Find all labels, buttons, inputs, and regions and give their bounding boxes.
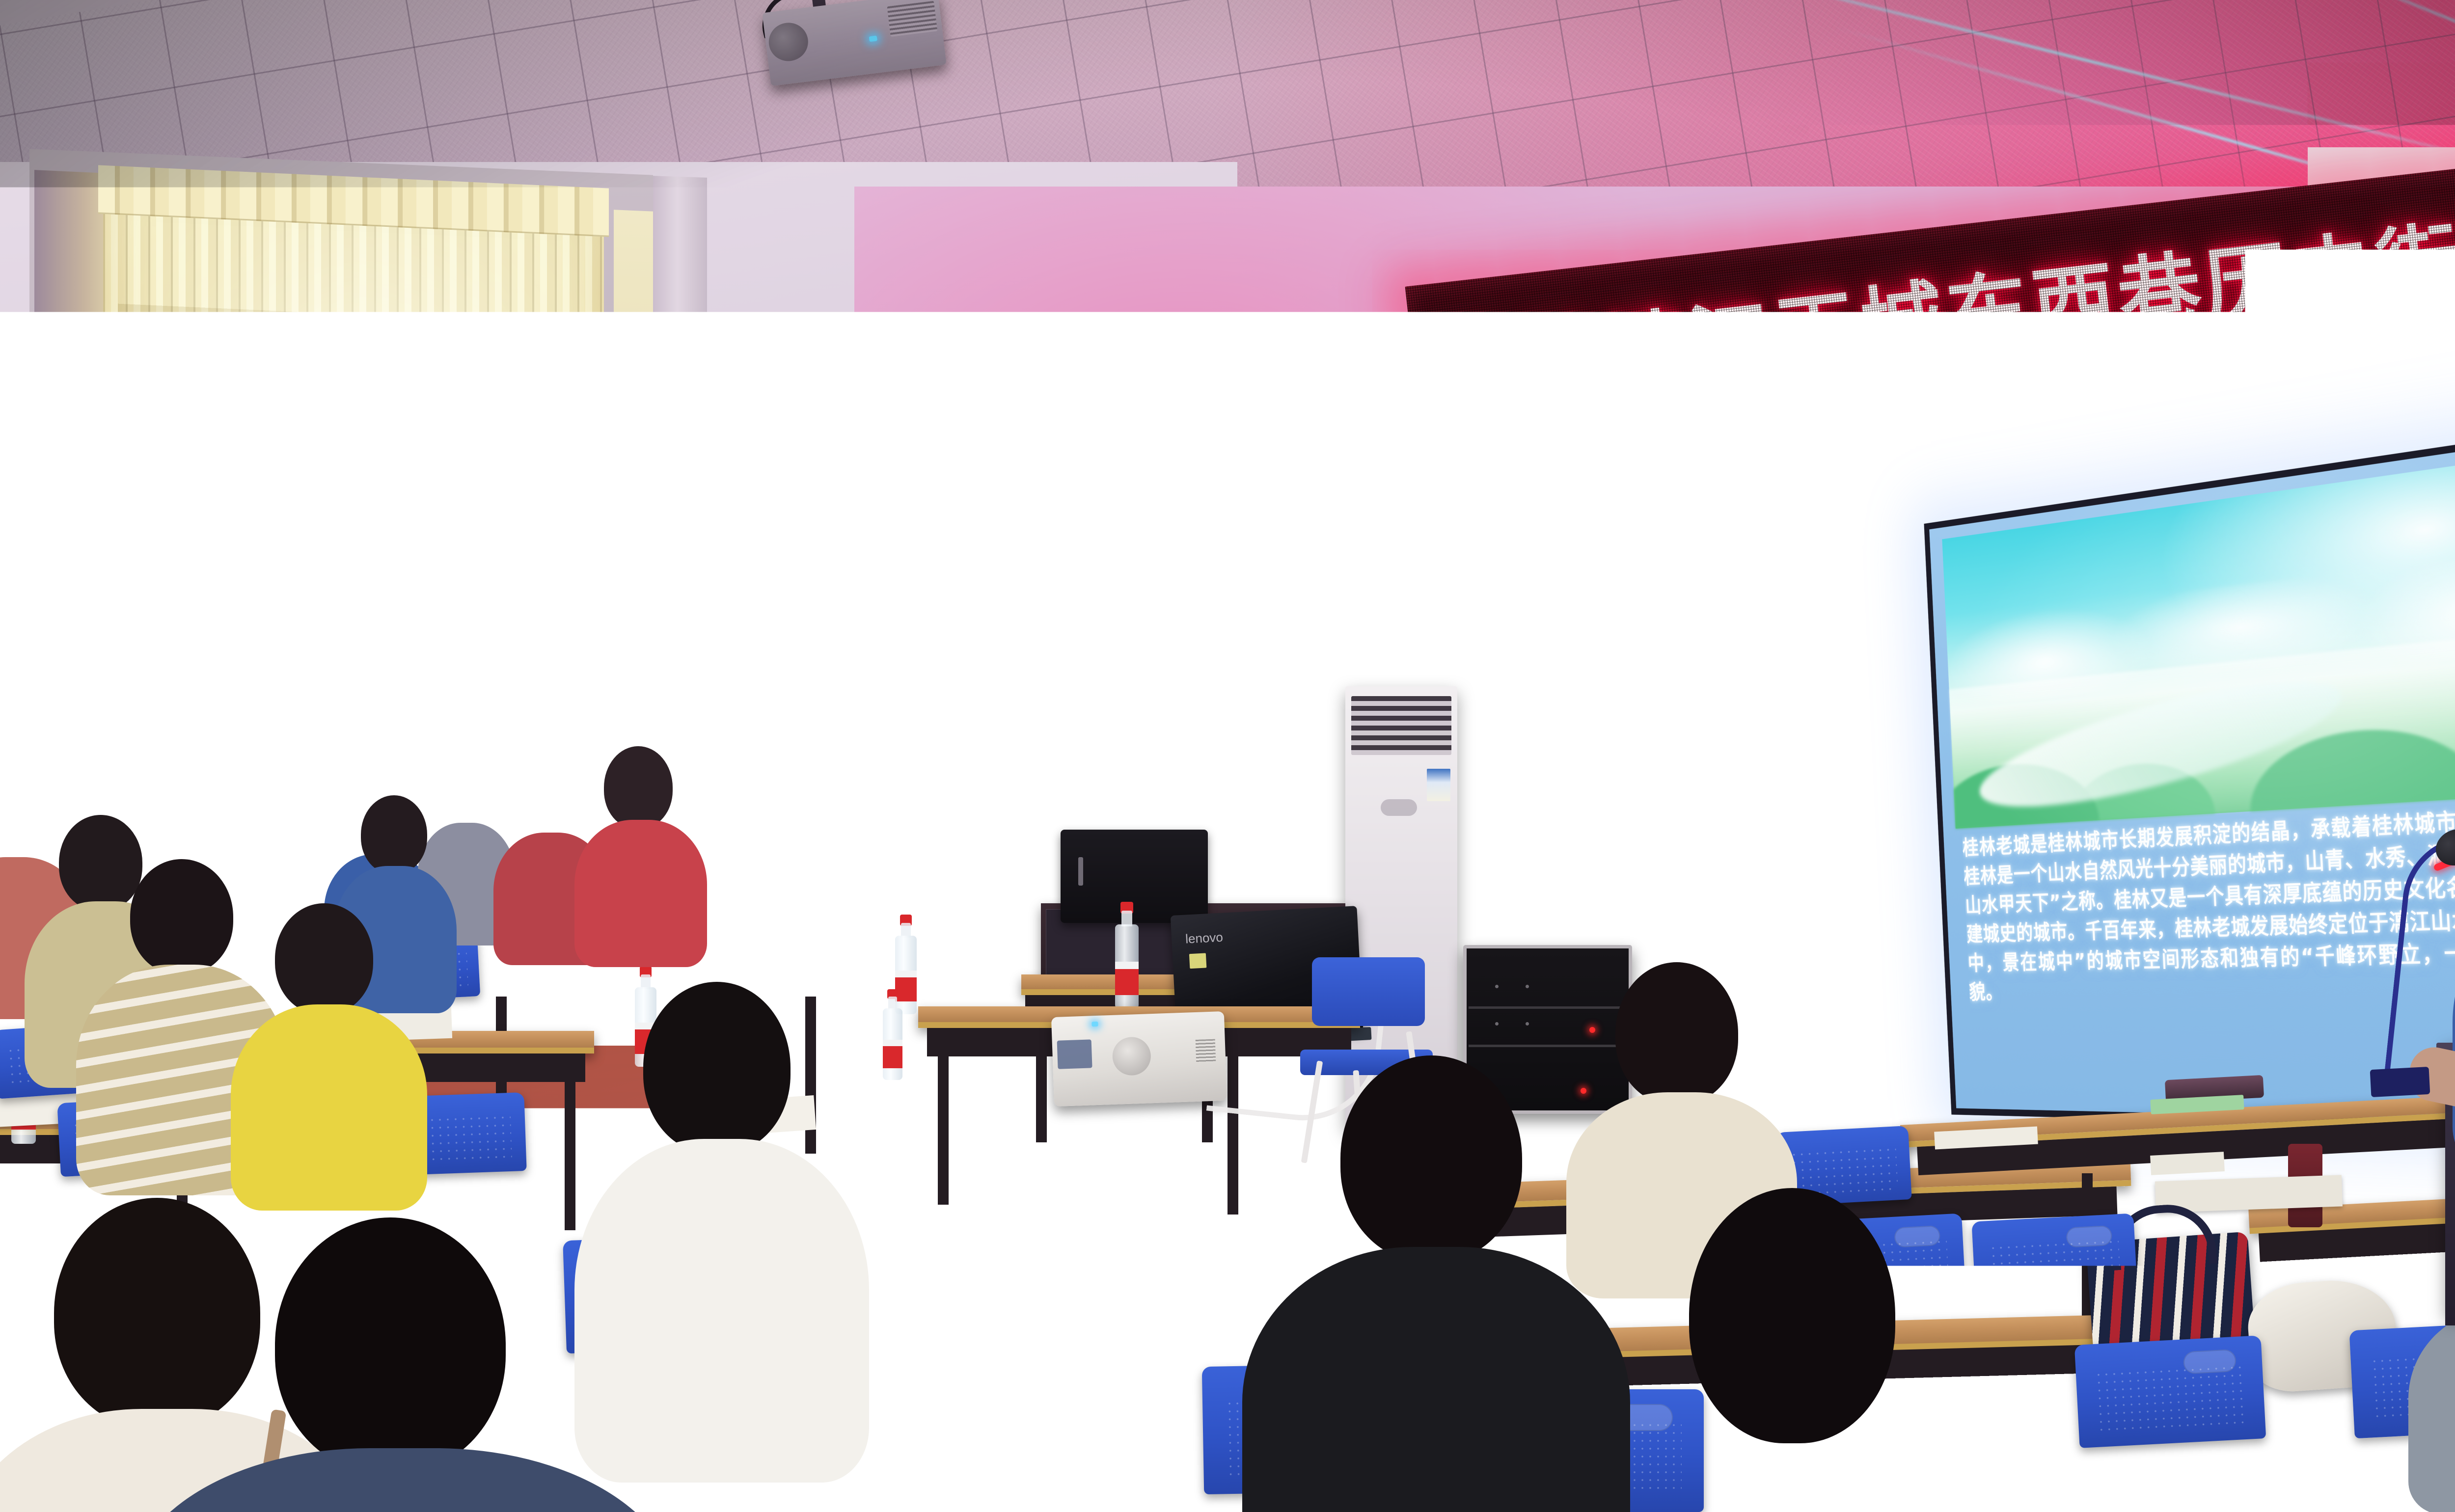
projector-power-led [869, 35, 877, 42]
desk-leg [938, 1028, 949, 1205]
phone-on-desk[interactable] [1104, 1260, 1203, 1291]
projection-screen: 桂林老城是桂林城市长期发展积淀的结晶，承载着桂林城市形成与发展的历史。桂林是一个… [1929, 422, 2455, 1125]
classroom-chair[interactable] [2074, 1335, 2266, 1448]
ac-brand-logo [1381, 799, 1417, 816]
wall-socket [1527, 807, 1550, 833]
ac-vent-grill [1351, 696, 1451, 755]
projector-vent [887, 1, 938, 37]
projector-ports [1057, 1039, 1092, 1069]
rack-power-led [1581, 1088, 1586, 1094]
wall-speaker-icon [932, 387, 977, 458]
laptop-brand-label: lenovo [1185, 930, 1223, 947]
student-desk [481, 977, 835, 997]
classroom-chair[interactable] [1971, 1213, 2138, 1312]
water-bottle[interactable] [1114, 911, 1140, 1009]
desk-leg [565, 1053, 575, 1230]
desk-projector[interactable] [1051, 1011, 1227, 1107]
laptop-sticker [1189, 953, 1207, 969]
notebook[interactable] [2150, 1152, 2225, 1175]
lecture-hall-photo: 桂林靖江王城东西巷历史街区更新及景观控制策略 主讲 桂林老城是桂林城市长期发展积… [0, 0, 2455, 1512]
rack-power-led [1589, 1027, 1595, 1033]
ac-energy-label [1427, 769, 1450, 801]
microphone-base [2370, 1067, 2430, 1097]
water-bottle[interactable] [881, 997, 904, 1080]
projector-power-led [1091, 1022, 1098, 1026]
laptop-bag[interactable] [1061, 830, 1208, 923]
window-daylight-glow [113, 195, 584, 826]
bag-zipper [1078, 857, 1083, 886]
projection-screen-frame: 桂林老城是桂林城市长期发展积淀的结晶，承载着桂林城市形成与发展的历史。桂林是一个… [1924, 413, 2455, 1133]
